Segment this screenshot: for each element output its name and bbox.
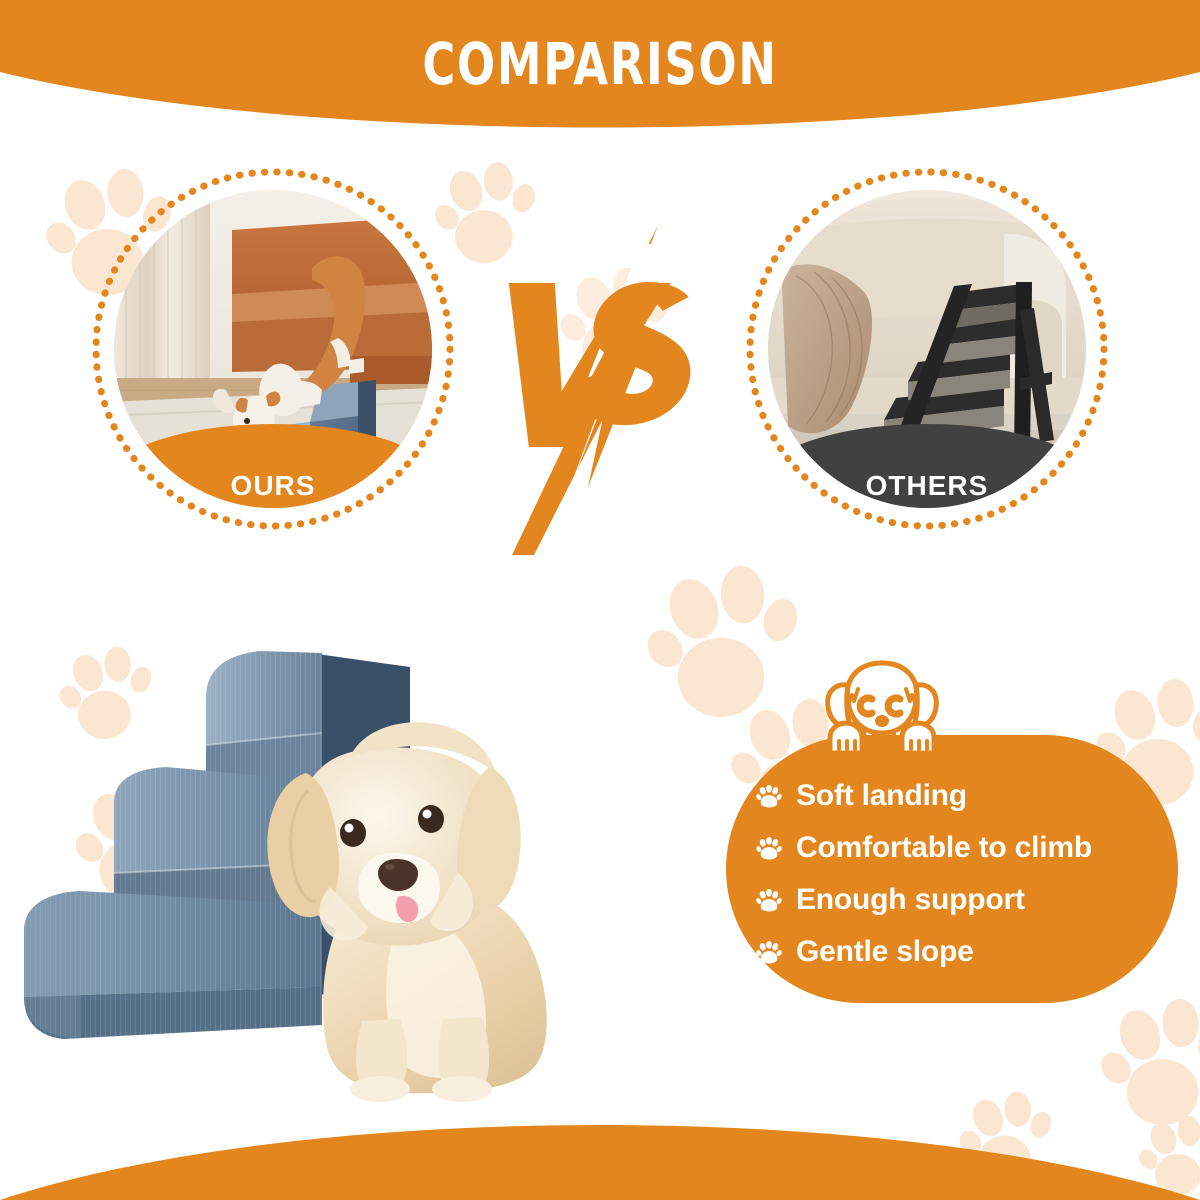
peeking-puppy-icon <box>806 655 958 765</box>
footer-banner <box>0 1090 1200 1200</box>
paw-print-icon <box>756 783 782 809</box>
dotted-ring <box>746 168 1108 530</box>
list-item: Enough support <box>756 880 1186 920</box>
list-item: Soft landing <box>756 776 1186 816</box>
feature-label: Enough support <box>796 883 1025 917</box>
comparison-card-ours[interactable]: OURS <box>92 168 454 530</box>
versus-badge <box>490 225 720 555</box>
page-title: COMPARISON <box>84 30 1116 98</box>
feature-list: Soft landing Comfortable to climb <box>756 776 1186 984</box>
comparison-card-others[interactable]: OTHERS <box>746 168 1108 530</box>
feature-label: Soft landing <box>796 779 967 813</box>
dotted-ring <box>92 168 454 530</box>
list-item: Gentle slope <box>756 932 1186 972</box>
paw-print-icon <box>756 835 782 861</box>
infographic-canvas: COMPARISON <box>0 0 1200 1200</box>
paw-print-icon <box>756 887 782 913</box>
feature-label: Comfortable to climb <box>796 831 1092 865</box>
paw-print-icon <box>756 939 782 965</box>
list-item: Comfortable to climb <box>756 828 1186 868</box>
feature-label: Gentle slope <box>796 935 974 969</box>
hero-product-photo <box>10 605 770 1105</box>
